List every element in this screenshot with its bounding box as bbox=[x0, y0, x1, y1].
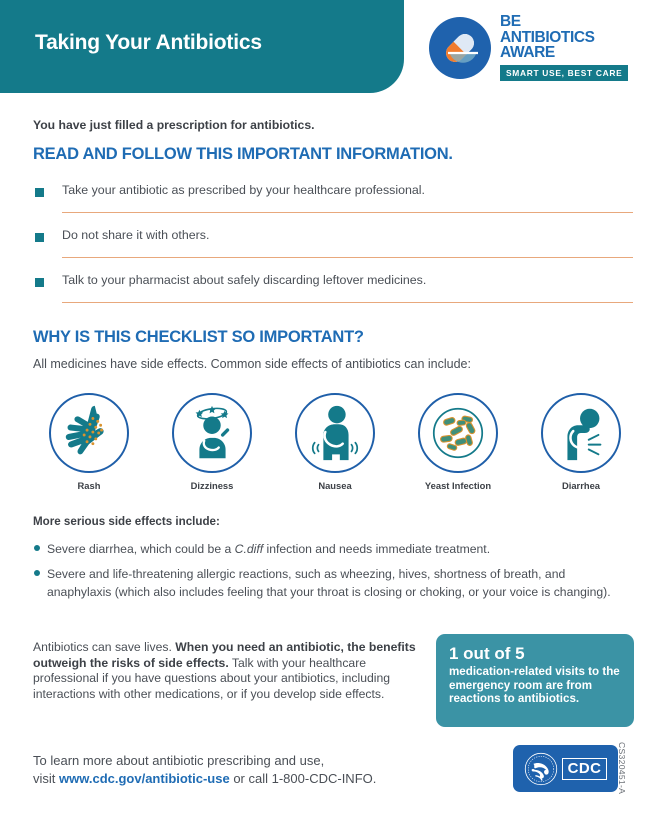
side-effect-rash: Rash bbox=[33, 393, 145, 491]
serious-list-item: Severe diarrhea, which could be a C.diff… bbox=[33, 540, 633, 558]
stat-headline: 1 out of 5 bbox=[449, 644, 621, 664]
footer-visit-prefix: visit bbox=[33, 771, 59, 786]
icon-circle bbox=[172, 393, 252, 473]
square-bullet-icon bbox=[35, 188, 44, 197]
side-effect-icon-row: Rash bbox=[33, 393, 637, 491]
checklist-item: Talk to your pharmacist about safely dis… bbox=[33, 273, 633, 318]
closing-part-1: Antibiotics can save lives. bbox=[33, 640, 175, 654]
icon-circle bbox=[295, 393, 375, 473]
logo-tagline: SMART USE, BEST CARE bbox=[500, 65, 628, 81]
logo-wordmark: BE ANTIBIOTICS AWARE SMART USE, BEST CAR… bbox=[500, 14, 640, 81]
logo-line-3: AWARE bbox=[500, 45, 640, 61]
side-effect-yeast-infection: Yeast Infection bbox=[402, 393, 514, 491]
stat-callout-box: 1 out of 5 medication-related visits to … bbox=[436, 634, 634, 727]
checklist: Take your antibiotic as prescribed by yo… bbox=[33, 183, 633, 318]
hhs-eagle-seal-icon bbox=[524, 752, 558, 786]
bacteria-petri-dish-icon bbox=[427, 402, 489, 464]
serious-item-italic: C.diff bbox=[235, 542, 263, 556]
serious-item-post: infection and needs immediate treatment. bbox=[263, 542, 490, 556]
why-subtext: All medicines have side effects. Common … bbox=[33, 357, 471, 371]
publication-code: CS320451-A bbox=[617, 742, 627, 794]
footer-line-1: To learn more about antibiotic prescribi… bbox=[33, 753, 324, 768]
serious-item-text: Severe and life-threatening allergic rea… bbox=[47, 567, 611, 599]
closing-paragraph: Antibiotics can save lives. When you nee… bbox=[33, 640, 418, 703]
serious-heading: More serious side effects include: bbox=[33, 515, 220, 528]
logo-line-2: ANTIBIOTICS bbox=[500, 30, 640, 46]
side-effect-diarrhea: Diarrhea bbox=[525, 393, 637, 491]
page-title: Taking Your Antibiotics bbox=[35, 31, 262, 55]
square-bullet-icon bbox=[35, 278, 44, 287]
checklist-item-label: Do not share it with others. bbox=[62, 228, 209, 242]
icon-label: Yeast Infection bbox=[402, 480, 514, 491]
logo-line-1: BE bbox=[500, 14, 640, 30]
side-effect-dizziness: Dizziness bbox=[156, 393, 268, 491]
checklist-item-label: Talk to your pharmacist about safely dis… bbox=[62, 273, 426, 287]
serious-item-text: Severe diarrhea, which could be a C.diff… bbox=[47, 542, 490, 556]
checklist-item: Take your antibiotic as prescribed by yo… bbox=[33, 183, 633, 228]
icon-circle bbox=[418, 393, 498, 473]
footer-text: To learn more about antibiotic prescribi… bbox=[33, 752, 503, 787]
divider-rule bbox=[62, 302, 633, 303]
divider-rule bbox=[62, 212, 633, 213]
icon-label: Rash bbox=[33, 480, 145, 491]
serious-list-item: Severe and life-threatening allergic rea… bbox=[33, 565, 633, 601]
checklist-item-label: Take your antibiotic as prescribed by yo… bbox=[62, 183, 425, 197]
icon-circle bbox=[541, 393, 621, 473]
intro-lead: You have just filled a prescription for … bbox=[33, 118, 314, 132]
pill-capsule-icon bbox=[428, 16, 492, 80]
round-bullet-icon bbox=[34, 570, 40, 576]
diarrhea-person-icon bbox=[550, 402, 612, 464]
cdc-url-link[interactable]: www.cdc.gov/antibiotic-use bbox=[59, 771, 230, 786]
why-heading: WHY IS THIS CHECKLIST SO IMPORTANT? bbox=[33, 328, 364, 347]
icon-label: Diarrhea bbox=[525, 480, 637, 491]
serious-item-pre: Severe diarrhea, which could be a bbox=[47, 542, 235, 556]
footer-visit-suffix: or call 1-800-CDC-INFO. bbox=[230, 771, 377, 786]
cdc-wordmark: CDC bbox=[562, 758, 608, 780]
serious-list: Severe diarrhea, which could be a C.diff… bbox=[33, 540, 633, 608]
icon-circle bbox=[49, 393, 129, 473]
be-antibiotics-aware-logo: BE ANTIBIOTICS AWARE SMART USE, BEST CAR… bbox=[428, 14, 640, 82]
dizzy-person-stars-icon bbox=[181, 402, 243, 464]
nausea-person-stomach-icon bbox=[304, 402, 366, 464]
infographic-page: Taking Your Antibiotics BE ANTIBIOTICS A… bbox=[0, 0, 669, 818]
round-bullet-icon bbox=[34, 545, 40, 551]
icon-label: Dizziness bbox=[156, 480, 268, 491]
hand-rash-icon bbox=[58, 402, 120, 464]
stat-description: medication-related visits to the emergen… bbox=[449, 665, 621, 706]
icon-label: Nausea bbox=[279, 480, 391, 491]
cdc-logo: CDC bbox=[513, 745, 618, 792]
read-follow-heading: READ AND FOLLOW THIS IMPORTANT INFORMATI… bbox=[33, 145, 453, 164]
checklist-item: Do not share it with others. bbox=[33, 228, 633, 273]
divider-rule bbox=[62, 257, 633, 258]
square-bullet-icon bbox=[35, 233, 44, 242]
side-effect-nausea: Nausea bbox=[279, 393, 391, 491]
